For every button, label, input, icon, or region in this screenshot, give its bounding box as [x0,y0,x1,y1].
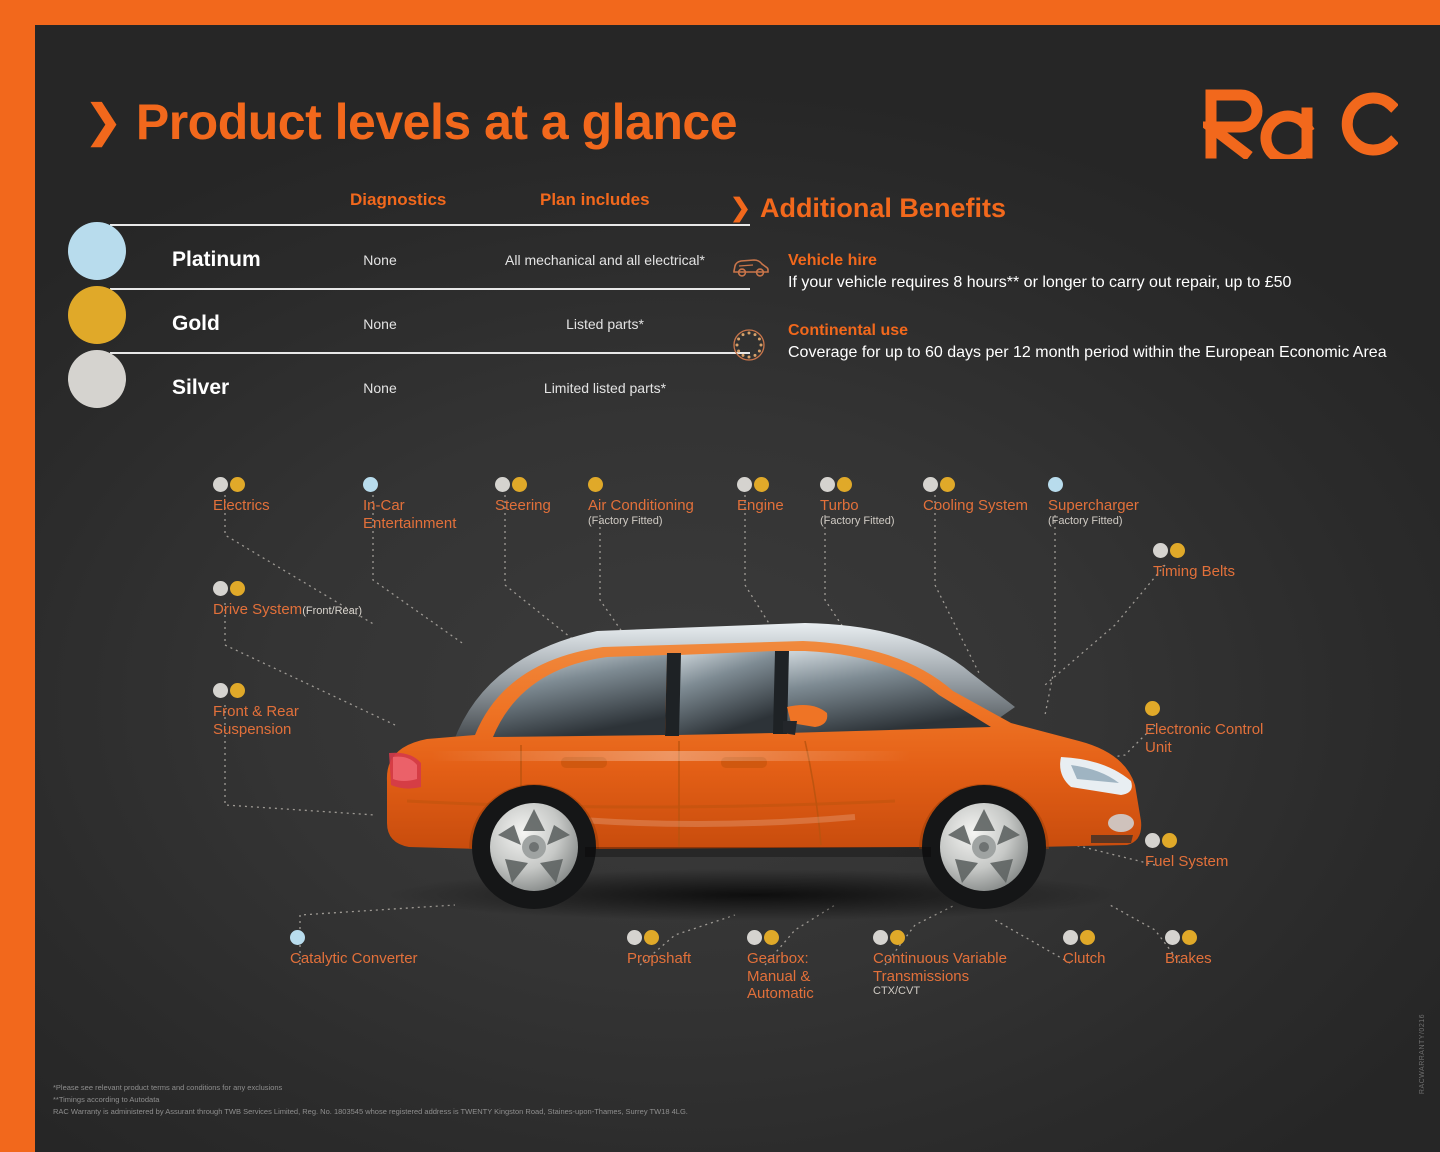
callout-label: Electrics [213,497,270,515]
gold-dot [754,477,769,492]
silver-dot [1165,930,1180,945]
coverage-dots [213,683,299,698]
gold-dot [1182,930,1197,945]
coverage-dots [213,581,362,596]
plans-table-header: Diagnostics Plan includes [110,190,750,224]
chevron-right-icon: ❯ [85,100,122,144]
callout-air-conditioning[interactable]: Air Conditioning (Factory Fitted) [588,477,694,528]
callout-fuel-system[interactable]: Fuel System [1145,833,1228,871]
callout-label: Clutch [1063,950,1106,968]
callout-in-car-entertainment[interactable]: In-Car Entertainment [363,477,456,532]
callout-propshaft[interactable]: Propshaft [627,930,691,968]
coverage-dots [820,477,895,492]
callout-label: Electronic Control Unit [1145,721,1263,756]
coverage-dots [1153,543,1235,558]
gold-dot [940,477,955,492]
platinum-dot [363,477,378,492]
callout-label: Continuous Variable Transmissions CTX/CV… [873,950,1007,998]
document-reference-code: RACWARRANTY/0216 [1419,1014,1426,1094]
plan-name: Platinum [172,248,261,272]
poster-panel: ❯ Product levels at a glance Diagnostics [35,25,1440,1152]
column-header-diagnostics: Diagnostics [350,190,446,210]
gold-dot [1145,701,1160,716]
callout-note: (Factory Fitted) [820,515,895,528]
page-title: Product levels at a glance [136,93,737,151]
coverage-dots [627,930,691,945]
table-row: Silver None Limited listed parts* [110,352,750,416]
coverage-dots [737,477,784,492]
callout-label: Steering [495,497,551,515]
benefit-vehicle-hire: Vehicle hire If your vehicle requires 8 … [730,252,1390,294]
benefit-text: Continental use Coverage for up to 60 da… [788,322,1387,369]
benefit-text: Vehicle hire If your vehicle requires 8 … [788,252,1291,294]
callout-clutch[interactable]: Clutch [1063,930,1106,968]
coverage-dots [213,477,270,492]
platinum-dot [290,930,305,945]
gold-dot [644,930,659,945]
footnote-3: RAC Warranty is administered by Assurant… [53,1106,953,1118]
silver-dot [747,930,762,945]
silver-dot [213,683,228,698]
car-illustration [335,595,1165,925]
plan-diagnostics: None [350,252,410,268]
silver-dot [737,477,752,492]
silver-dot [495,477,510,492]
callout-gearbox[interactable]: Gearbox: Manual & Automatic [747,930,814,1003]
coverage-dots [588,477,694,492]
silver-dot [873,930,888,945]
table-row: Gold None Listed parts* [110,288,750,352]
footnote-2: **Timings according to Autodata [53,1094,953,1106]
callout-label: Supercharger (Factory Fitted) [1048,497,1139,528]
callout-label: Drive System(Front/Rear) [213,601,362,619]
plan-includes: Listed parts* [460,316,750,332]
page-header: ❯ Product levels at a glance [85,93,737,151]
callout-engine[interactable]: Engine [737,477,784,515]
callout-supercharger[interactable]: Supercharger (Factory Fitted) [1048,477,1139,528]
gold-dot [1080,930,1095,945]
coverage-dots [1165,930,1212,945]
gold-dot [588,477,603,492]
plan-name: Silver [172,376,229,400]
callout-drive-system[interactable]: Drive System(Front/Rear) [213,581,362,619]
column-header-plan-includes: Plan includes [540,190,650,210]
coverage-dots [363,477,456,492]
plan-diagnostics: None [350,380,410,396]
coverage-dots [1063,930,1106,945]
footer-legal: *Please see relevant product terms and c… [53,1082,953,1118]
callout-timing-belts[interactable]: Timing Belts [1153,543,1235,581]
callout-cooling-system[interactable]: Cooling System [923,477,1028,515]
silver-dot [213,477,228,492]
benefit-body: If your vehicle requires 8 hours** or lo… [788,272,1291,294]
gold-dot [230,683,245,698]
callout-electronic-control-unit[interactable]: Electronic Control Unit [1145,701,1263,756]
callout-label: Catalytic Converter [290,950,418,968]
gold-dot [512,477,527,492]
benefits-header: ❯ Additional Benefits [730,193,1390,224]
gold-dot [764,930,779,945]
plan-includes: All mechanical and all electrical* [460,252,750,268]
silver-swatch [68,350,126,408]
silver-dot [213,581,228,596]
table-row: Platinum None All mechanical and all ele… [110,224,750,288]
callout-turbo[interactable]: Turbo (Factory Fitted) [820,477,895,528]
plan-includes: Limited listed parts* [460,380,750,396]
callout-note: CTX/CVT [873,985,1007,998]
callout-label: Engine [737,497,784,515]
callout-continuous-variable-transmissions[interactable]: Continuous Variable Transmissions CTX/CV… [873,930,1007,998]
benefit-body: Coverage for up to 60 days per 12 month … [788,342,1387,364]
benefit-continental-use: Continental use Coverage for up to 60 da… [730,322,1390,369]
chevron-right-icon: ❯ [730,196,751,221]
platinum-swatch [68,222,126,280]
callout-label: Cooling System [923,497,1028,515]
callout-label: In-Car Entertainment [363,497,456,532]
callout-label: Brakes [1165,950,1212,968]
callout-label: Fuel System [1145,853,1228,871]
gold-dot [890,930,905,945]
callout-label: Front & Rear Suspension [213,703,299,738]
silver-dot [1145,833,1160,848]
gold-dot [1170,543,1185,558]
callout-front-rear-suspension[interactable]: Front & Rear Suspension [213,683,299,738]
coverage-dots [873,930,1007,945]
callout-label: Air Conditioning (Factory Fitted) [588,497,694,528]
gold-swatch [68,286,126,344]
callout-note: (Factory Fitted) [1048,515,1139,528]
coverage-dots [1048,477,1139,492]
callout-brakes[interactable]: Brakes [1165,930,1212,968]
silver-dot [923,477,938,492]
additional-benefits-section: ❯ Additional Benefits Vehicle hire If yo… [730,193,1390,369]
silver-dot [627,930,642,945]
callout-note: (Factory Fitted) [588,515,694,528]
rac-logo [1203,87,1398,171]
coverage-dots [923,477,1028,492]
plans-table: Diagnostics Plan includes Platinum None … [110,190,750,416]
benefits-title: Additional Benefits [760,193,1006,224]
plan-diagnostics: None [350,316,410,332]
benefit-heading: Continental use [788,322,1387,340]
callout-label: Propshaft [627,950,691,968]
silver-dot [1153,543,1168,558]
gold-dot [1162,833,1177,848]
callout-note: (Front/Rear) [302,605,362,617]
plan-name: Gold [172,312,220,336]
footnote-1: *Please see relevant product terms and c… [53,1082,953,1094]
callout-catalytic-converter[interactable]: Catalytic Converter [290,930,418,968]
rac-logo-mark [1203,87,1398,159]
callout-electrics[interactable]: Electrics [213,477,270,515]
coverage-dots [495,477,551,492]
callout-label: Timing Belts [1153,563,1235,581]
poster-root: ❯ Product levels at a glance Diagnostics [0,0,1440,1152]
coverage-dots [290,930,418,945]
gold-dot [230,477,245,492]
callout-steering[interactable]: Steering [495,477,551,515]
car-icon [730,252,772,294]
gold-dot [230,581,245,596]
coverage-dots [1145,833,1228,848]
gold-dot [837,477,852,492]
silver-dot [820,477,835,492]
coverage-dots [1145,701,1263,716]
silver-dot [1063,930,1078,945]
callout-label: Gearbox: Manual & Automatic [747,950,814,1003]
callout-label: Turbo (Factory Fitted) [820,497,895,528]
eu-stars-icon [730,322,772,369]
coverage-dots [747,930,814,945]
benefit-heading: Vehicle hire [788,252,1291,270]
platinum-dot [1048,477,1063,492]
